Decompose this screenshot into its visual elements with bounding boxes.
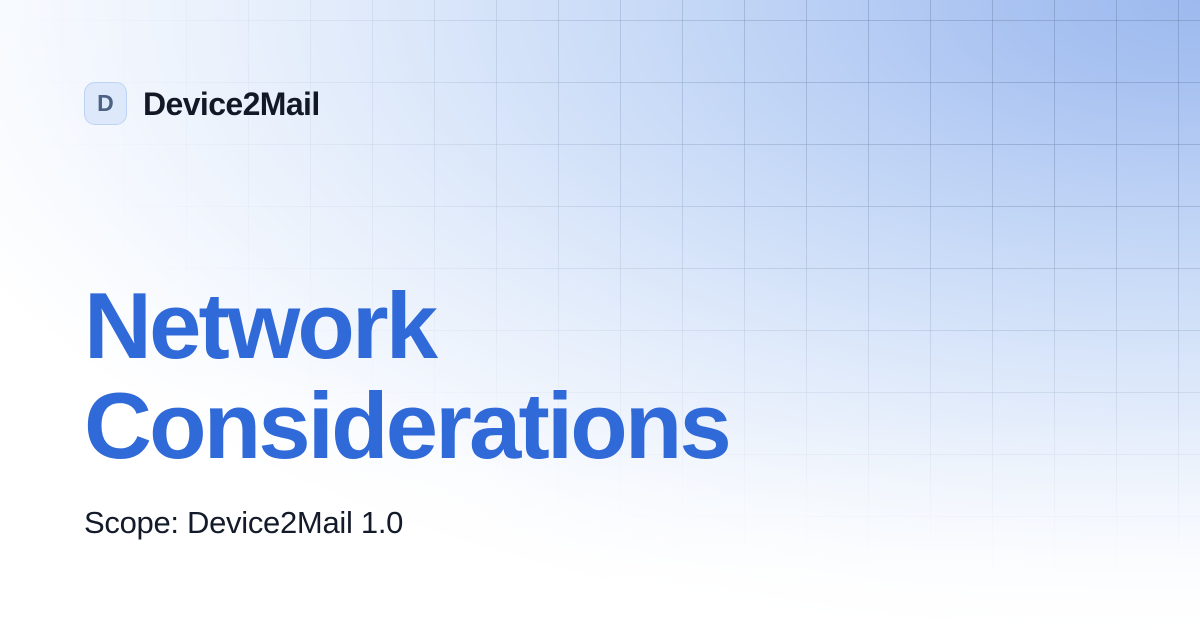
- brand-lockup: D Device2Mail: [84, 82, 320, 125]
- scope-subtitle: Scope: Device2Mail 1.0: [84, 504, 403, 541]
- brand-monogram-letter: D: [97, 92, 114, 115]
- cover-slide: D Device2Mail Network Considerations Sco…: [0, 0, 1200, 630]
- brand-monogram-badge-icon: D: [84, 82, 127, 125]
- cover-content: D Device2Mail Network Considerations Sco…: [0, 0, 1200, 630]
- page-title-line-1: Network: [84, 276, 729, 376]
- page-title: Network Considerations: [84, 276, 729, 475]
- brand-name: Device2Mail: [143, 88, 320, 120]
- page-title-line-2: Considerations: [84, 376, 729, 476]
